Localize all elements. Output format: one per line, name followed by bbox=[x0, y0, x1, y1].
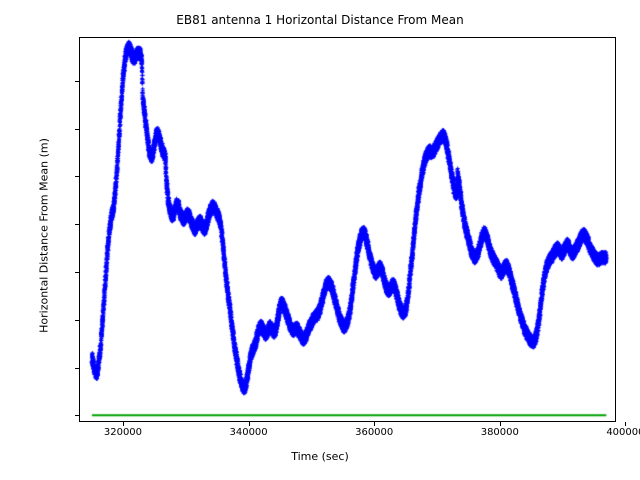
x-tick-mark bbox=[625, 422, 626, 426]
x-tick-label: 320000 bbox=[83, 427, 163, 438]
y-tick-mark bbox=[75, 368, 79, 369]
x-tick-mark bbox=[123, 422, 124, 426]
y-tick-mark bbox=[75, 224, 79, 225]
y-tick-mark bbox=[75, 129, 79, 130]
y-axis-label: Horizontal Distance From Mean (m) bbox=[38, 96, 51, 376]
x-tick-label: 400000 bbox=[585, 427, 640, 438]
x-tick-mark bbox=[249, 422, 250, 426]
y-tick-mark bbox=[75, 320, 79, 321]
x-tick-label: 360000 bbox=[334, 427, 414, 438]
scatter-plot-canvas bbox=[80, 38, 617, 423]
x-tick-label: 380000 bbox=[460, 427, 540, 438]
x-tick-mark bbox=[374, 422, 375, 426]
x-tick-mark bbox=[500, 422, 501, 426]
y-tick-mark bbox=[75, 415, 79, 416]
y-tick-mark bbox=[75, 176, 79, 177]
x-tick-label: 340000 bbox=[209, 427, 289, 438]
x-axis-label: Time (sec) bbox=[0, 450, 640, 463]
matplotlib-figure: EB81 antenna 1 Horizontal Distance From … bbox=[0, 0, 640, 480]
page-title: EB81 antenna 1 Horizontal Distance From … bbox=[0, 13, 640, 27]
y-tick-mark bbox=[75, 81, 79, 82]
plot-axes-frame bbox=[79, 37, 616, 422]
y-tick-mark bbox=[75, 272, 79, 273]
